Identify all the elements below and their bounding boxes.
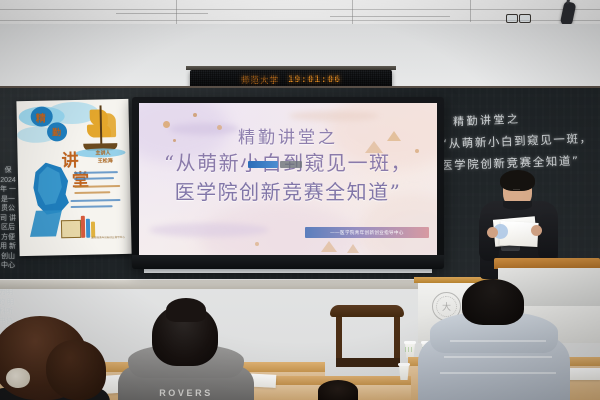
slide-line-1: 精勤讲堂之	[139, 123, 437, 148]
display-mount	[144, 269, 432, 273]
chalk-column-1: 保 2024年 一是一 贯公司 讲区后 方便用 新创山 中心	[0, 166, 16, 271]
display-bezel	[132, 255, 444, 269]
chalk-headline-line1: 精勤讲堂之	[453, 111, 521, 130]
slide-line-3: 医学院创新竞赛全知道”	[139, 176, 437, 205]
hand-drawn-poster: 精 勤 讲 堂 主讲人 王松海 医学院青年创新创业指导中心	[16, 99, 131, 256]
poster-speaker-name: 王松海	[98, 157, 113, 164]
speaker-hair	[500, 170, 535, 191]
speaker-left-hand	[487, 227, 498, 238]
paper-cup-3-rim	[398, 363, 410, 366]
led-institution-text: 师范大学	[241, 74, 279, 86]
eyeglass-left-icon	[506, 14, 518, 23]
slide-attribution-text: ——医学院青年创新创业指导中心	[330, 230, 404, 236]
speaker-right-arm	[538, 213, 558, 261]
display-model-badge-icon	[280, 161, 302, 168]
poster-speaker-label: 主讲人	[95, 149, 110, 156]
student-center-hair-bun	[166, 298, 206, 322]
chair-seat	[336, 358, 400, 367]
poster-char-qin: 勤	[52, 125, 61, 138]
poster-neck	[30, 210, 62, 237]
hoodie-graphic-text: ROVERS	[118, 388, 254, 398]
chair-backrest	[330, 305, 404, 317]
poster-char-jing: 精	[36, 110, 46, 125]
student-right-hair	[462, 279, 524, 325]
speaker-right-hand	[531, 225, 542, 236]
eyeglass-right-icon	[519, 14, 531, 23]
smart-display[interactable]: 精勤讲堂之 “从萌新小白到窥见一斑， 医学院创新竞赛全知道” ——医学院青年创新…	[132, 97, 444, 269]
paper-cup-1-rim	[404, 341, 416, 344]
slide-attribution-ribbon: ——医学院青年创新创业指导中心	[305, 227, 429, 238]
student-left-hair-strands	[46, 340, 106, 400]
speaker-collar	[503, 201, 532, 210]
seal-glyph: 大	[442, 300, 451, 313]
classroom-photo: 师范大学 19:01:06 保 2024年 一是一 贯公司 讲区后 方便用 新创…	[0, 0, 600, 400]
student-back-row-head	[318, 380, 358, 400]
hair-scrunchie	[6, 368, 30, 388]
poster-credit: 医学院青年创新创业指导中心	[91, 236, 129, 240]
presentation-screen[interactable]: 精勤讲堂之 “从萌新小白到窥见一斑， 医学院创新竞赛全知道” ——医学院青年创新…	[139, 103, 437, 255]
paper-cup-1-pattern	[405, 347, 414, 352]
led-clock: 19:01:06	[288, 75, 341, 85]
display-brand-logo-icon	[248, 161, 278, 168]
eyeglass-bridge-icon	[513, 189, 520, 190]
